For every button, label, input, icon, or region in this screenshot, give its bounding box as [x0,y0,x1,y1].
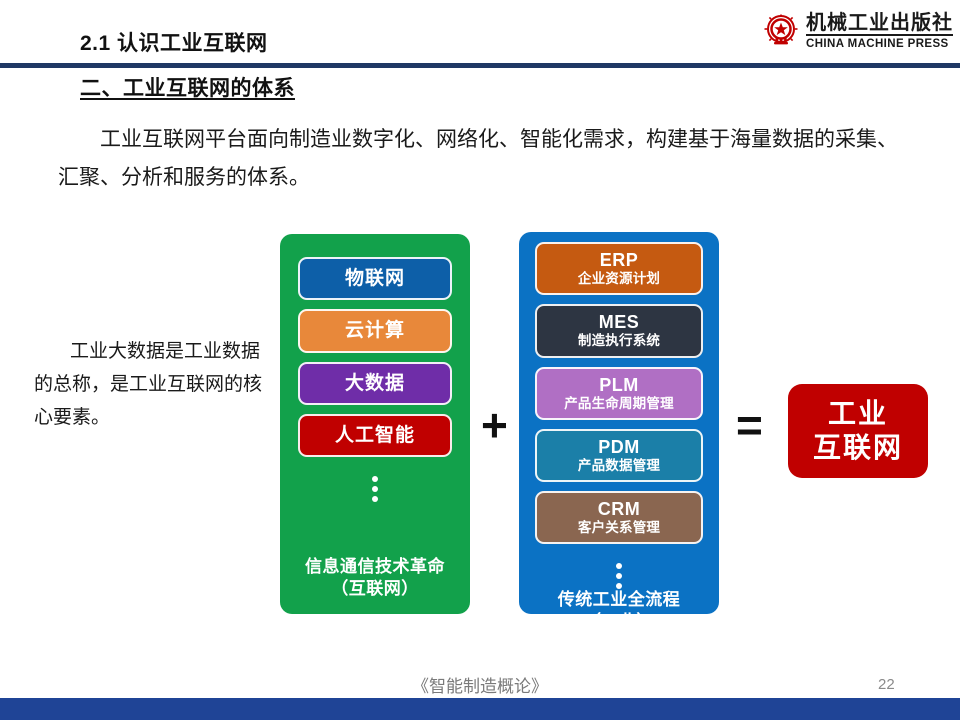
chip-crm-label: 客户关系管理 [539,520,699,535]
ict-caption-line2: （互联网） [305,578,445,600]
chip-pdm-label: 产品数据管理 [539,458,699,473]
header-divider [0,63,960,68]
result-line1: 工业 [828,397,888,431]
chip-erp[interactable]: ERP 企业资源计划 [535,242,703,295]
publisher-logo: 机械工业出版社 CHINA MACHINE PRESS [762,8,952,56]
vertical-dots-icon [372,476,378,502]
chip-plm-label: 产品生命周期管理 [539,396,699,411]
chip-mes-label: 制造执行系统 [539,333,699,348]
result-line2: 互联网 [813,431,903,465]
industry-caption-line2: （工业） [558,611,681,633]
chip-mes[interactable]: MES 制造执行系统 [535,304,703,357]
industry-caption-line1: 传统工业全流程 [558,589,681,611]
footer-bar [0,698,960,720]
ict-panel-caption: 信息通信技术革命 （互联网） [305,556,445,600]
page-title: 2.1 认识工业互联网 [80,27,268,57]
plus-operator: + [481,402,508,448]
chip-erp-label: 企业资源计划 [539,271,699,286]
chip-plm-abbr: PLM [539,375,699,395]
lead-paragraph: 工业互联网平台面向制造业数字化、网络化、智能化需求，构建基于海量数据的采集、汇聚… [58,120,906,196]
chip-big-data[interactable]: 大数据 [298,362,452,405]
equals-operator: = [736,402,763,448]
chip-plm[interactable]: PLM 产品生命周期管理 [535,367,703,420]
result-industrial-internet: 工业 互联网 [788,384,928,478]
chip-pdm-abbr: PDM [539,437,699,457]
chip-erp-abbr: ERP [539,250,699,270]
vertical-dots-icon [616,563,622,589]
slide: 机械工业出版社 CHINA MACHINE PRESS 2.1 认识工业互联网 … [0,0,960,720]
chip-cloud-computing-label: 云计算 [345,320,405,341]
chip-artificial-intelligence[interactable]: 人工智能 [298,414,452,457]
chip-artificial-intelligence-label: 人工智能 [335,425,415,446]
chip-big-data-label: 大数据 [345,373,405,394]
logo-text: 机械工业出版社 CHINA MACHINE PRESS [806,13,953,51]
page-subtitle: 二、工业互联网的体系 [80,72,295,102]
industry-panel-caption: 传统工业全流程 （工业） [558,589,681,633]
side-note: 工业大数据是工业数据的总称，是工业互联网的核心要素。 [34,335,270,434]
logo-english-name: CHINA MACHINE PRESS [806,39,953,51]
chip-crm[interactable]: CRM 客户关系管理 [535,491,703,544]
footer-book-title: 《智能制造概论》 [0,672,960,697]
ict-panel: 物联网 云计算 大数据 人工智能 信息通信技术革命 （互联网） [280,234,470,614]
industry-panel: ERP 企业资源计划 MES 制造执行系统 PLM 产品生命周期管理 PDM 产… [519,232,719,614]
page-number: 22 [878,676,895,693]
chip-iot[interactable]: 物联网 [298,257,452,300]
chip-mes-abbr: MES [539,312,699,332]
gear-star-emblem-icon [762,12,800,52]
logo-chinese-name: 机械工业出版社 [806,13,953,36]
chip-pdm[interactable]: PDM 产品数据管理 [535,429,703,482]
ict-caption-line1: 信息通信技术革命 [305,556,445,578]
chip-cloud-computing[interactable]: 云计算 [298,309,452,352]
chip-crm-abbr: CRM [539,499,699,519]
chip-iot-label: 物联网 [345,268,405,289]
